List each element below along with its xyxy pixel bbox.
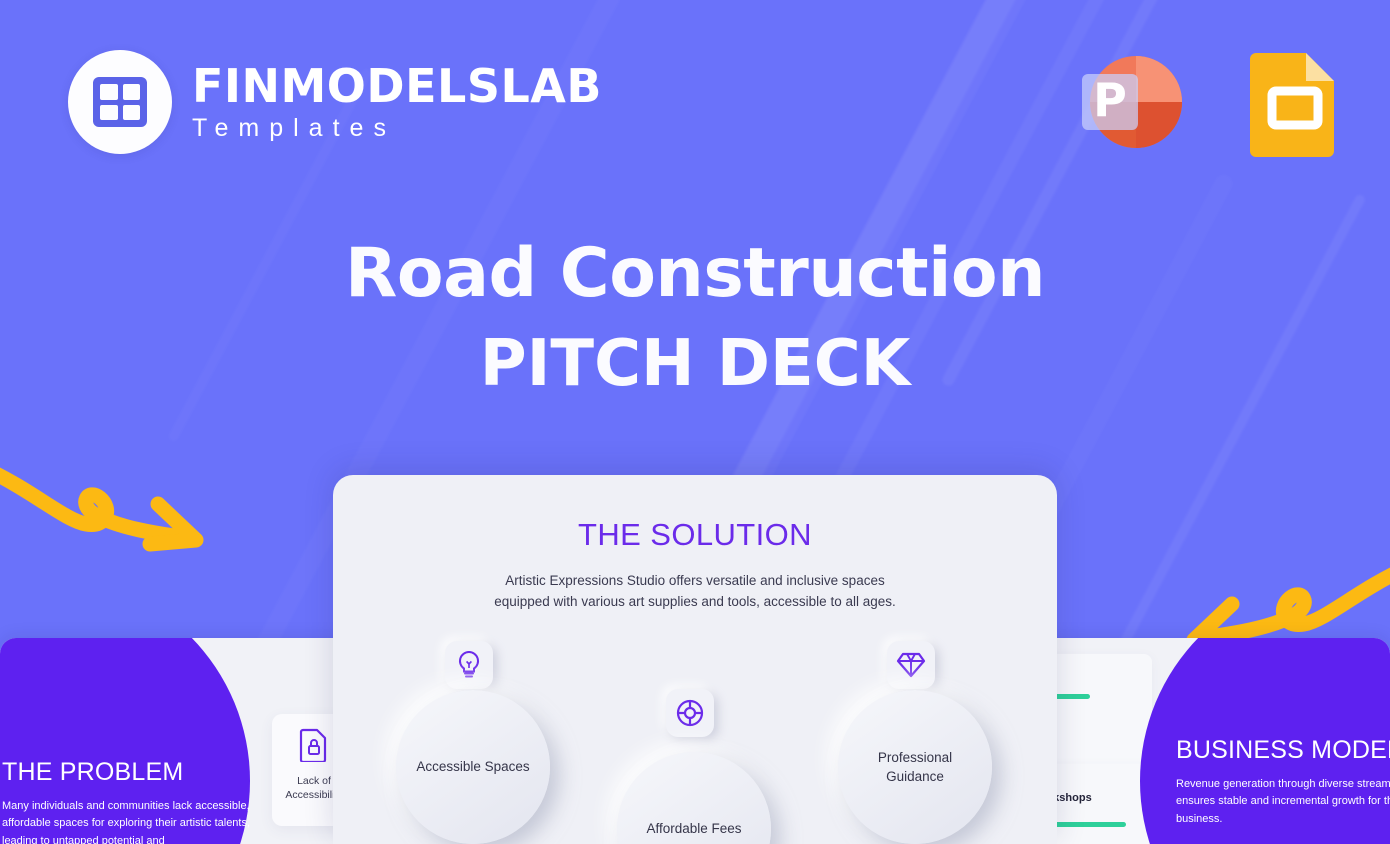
solution-feature-professional-guidance: Professional Guidance xyxy=(838,690,992,844)
powerpoint-icon[interactable]: P xyxy=(1068,38,1196,166)
business-copy: BUSINESS MODEL Revenue generation throug… xyxy=(1176,736,1390,829)
slide-the-problem[interactable]: Lack of Accessibility THE PROBLEM Many i… xyxy=(0,638,372,844)
feature-label: Affordable Fees xyxy=(630,819,757,838)
slide-the-solution[interactable]: THE SOLUTION Artistic Expressions Studio… xyxy=(333,475,1057,844)
lightbulb-icon xyxy=(445,641,493,689)
brand-mark-circle xyxy=(68,50,172,154)
svg-text:P: P xyxy=(1093,73,1127,127)
brand-name: FINMODELSLAB xyxy=(192,63,602,109)
solution-subtitle: Artistic Expressions Studio offers versa… xyxy=(485,571,905,612)
lifebuoy-icon xyxy=(666,689,714,737)
solution-feature-affordable-fees: Affordable Fees xyxy=(617,752,771,844)
brand-tagline: Templates xyxy=(192,116,602,141)
feature-label: Accessible Spaces xyxy=(400,757,545,776)
hero-title: Road Construction PITCH DECK xyxy=(0,232,1390,403)
brand-logo[interactable]: FINMODELSLAB Templates xyxy=(68,50,602,154)
google-slides-icon[interactable] xyxy=(1248,47,1342,157)
hero-title-line2: PITCH DECK xyxy=(0,326,1390,403)
business-title: BUSINESS MODEL xyxy=(1176,736,1390,765)
problem-copy: THE PROBLEM Many individuals and communi… xyxy=(2,758,252,844)
business-body: Revenue generation through diverse strea… xyxy=(1176,776,1390,829)
problem-body: Many individuals and communities lack ac… xyxy=(2,798,252,844)
solution-feature-accessible-spaces: Accessible Spaces xyxy=(396,690,550,844)
grid-squares-icon xyxy=(93,77,147,127)
document-lock-icon xyxy=(299,728,329,762)
brand-text: FINMODELSLAB Templates xyxy=(192,63,602,141)
squiggly-arrow-right-icon xyxy=(0,446,214,571)
diamond-icon xyxy=(887,641,935,689)
problem-title: THE PROBLEM xyxy=(2,758,252,787)
format-icons: P xyxy=(1068,38,1342,166)
hero-title-line1: Road Construction xyxy=(0,232,1390,316)
slide-business-model[interactable]: Workshops BUSINESS MODEL Revenue generat… xyxy=(1018,638,1390,844)
solution-title: THE SOLUTION xyxy=(333,517,1057,553)
pitch-deck-preview: FINMODELSLAB Templates P Road Constructi… xyxy=(0,0,1390,844)
feature-label: Professional Guidance xyxy=(838,748,992,786)
